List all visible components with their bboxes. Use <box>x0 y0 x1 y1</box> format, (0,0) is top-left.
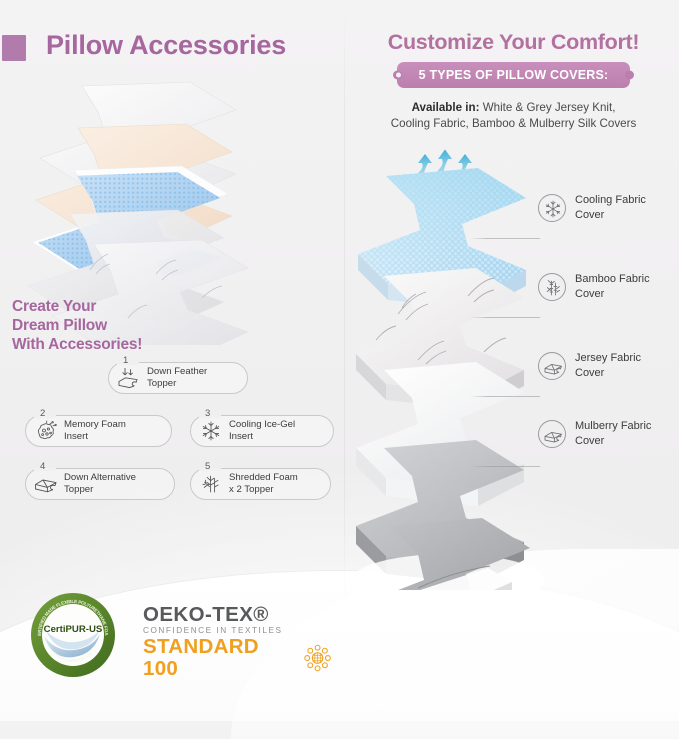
fabric-swatch-icon <box>538 420 566 448</box>
lead-line-jersey <box>470 396 540 397</box>
down-alternative-topper-icon <box>33 472 59 496</box>
accessory-number: 1 <box>120 355 131 366</box>
right-pillow-covers-illustration <box>356 140 556 590</box>
accessory-pill-memory-foam-insert[interactable]: 2 Memory Foam Insert <box>25 415 172 447</box>
available-in-text: Available in: White & Grey Jersey Knit, … <box>348 100 679 132</box>
subtitle-line-3: With Accessories! <box>12 335 192 354</box>
cover-row-cooling-fabric[interactable]: Cooling Fabric Cover <box>538 193 646 222</box>
lead-line-bamboo <box>470 317 540 318</box>
oeko-tex-flower-icon <box>302 642 333 674</box>
panel-divider <box>344 8 345 608</box>
cover-label: Cooling Fabric Cover <box>575 193 646 222</box>
badge-notch-right <box>626 73 631 78</box>
oeko-tex-logo: OEKO-TEX® CONFIDENCE IN TEXTILES STANDAR… <box>143 604 333 666</box>
down-feather-topper-icon <box>116 366 142 390</box>
pillow-covers-badge-wrap: 5 TYPES OF PILLOW COVERS: <box>348 62 679 88</box>
cover-label: Bamboo Fabric Cover <box>575 272 650 301</box>
accessory-number: 2 <box>37 408 48 419</box>
accessory-label: Memory Foam Insert <box>64 419 126 442</box>
accessory-number: 5 <box>202 461 213 472</box>
accessory-pill-shredded-foam-topper[interactable]: 5 Shredded Foam x 2 Topper <box>190 468 331 500</box>
subtitle-line-2: Dream Pillow <box>12 316 192 335</box>
bamboo-icon <box>538 273 566 301</box>
shredded-foam-icon <box>198 472 224 496</box>
snowflake-icon <box>198 419 224 443</box>
accessory-label: Shredded Foam x 2 Topper <box>229 472 298 495</box>
accent-square <box>2 35 26 61</box>
cover-row-jersey-fabric[interactable]: Jersey Fabric Cover <box>538 351 641 380</box>
cover-label: Mulberry Fabric Cover <box>575 419 651 448</box>
certipur-us-badge: CERTIFIED MADE FLEXIBLE POLYURETHANE FOA… <box>30 592 116 678</box>
pillow-covers-badge: 5 TYPES OF PILLOW COVERS: <box>397 62 631 88</box>
oeko-tex-standard: STANDARD 100 <box>143 636 296 680</box>
cover-row-bamboo-fabric[interactable]: Bamboo Fabric Cover <box>538 272 650 301</box>
accessory-number: 4 <box>37 461 48 472</box>
accessory-pill-down-feather-topper[interactable]: 1 Down Feather Topper <box>108 362 248 394</box>
subtitle-line-1: Create Your <box>12 297 192 316</box>
snowflake-icon <box>538 194 566 222</box>
accessory-pill-cooling-ice-gel-insert[interactable]: 3 Cooling Ice-Gel Insert <box>190 415 334 447</box>
lead-line-mulberry <box>470 466 540 467</box>
oeko-tex-title: OEKO-TEX® <box>143 604 333 626</box>
accessory-pill-down-alternative-topper[interactable]: 4 Down Alternative Topper <box>25 468 175 500</box>
left-panel-title: Pillow Accessories <box>46 30 336 61</box>
right-panel-title: Customize Your Comfort! <box>348 30 679 55</box>
memory-foam-insert-icon <box>33 419 59 443</box>
lead-line-cooling <box>470 238 540 239</box>
infographic-canvas: Pillow Accessories <box>0 0 679 679</box>
available-in-value-1: White & Grey Jersey Knit, <box>483 101 616 114</box>
cover-label: Jersey Fabric Cover <box>575 351 641 380</box>
available-in-value-2: Cooling Fabric, Bamboo & Mulberry Silk C… <box>348 116 679 132</box>
cover-row-mulberry-fabric[interactable]: Mulberry Fabric Cover <box>538 419 651 448</box>
fabric-swatch-icon <box>538 352 566 380</box>
accessory-label: Down Feather Topper <box>147 366 207 389</box>
badge-notch-left <box>396 73 401 78</box>
badge-label: 5 TYPES OF PILLOW COVERS: <box>419 68 609 82</box>
certipur-mark: CertiPUR-US <box>44 624 103 635</box>
accessory-label: Down Alternative Topper <box>64 472 136 495</box>
accessory-number: 3 <box>202 408 213 419</box>
available-in-label: Available in: <box>412 101 480 114</box>
left-panel-subtitle: Create Your Dream Pillow With Accessorie… <box>12 297 192 354</box>
accessory-label: Cooling Ice-Gel Insert <box>229 419 295 442</box>
